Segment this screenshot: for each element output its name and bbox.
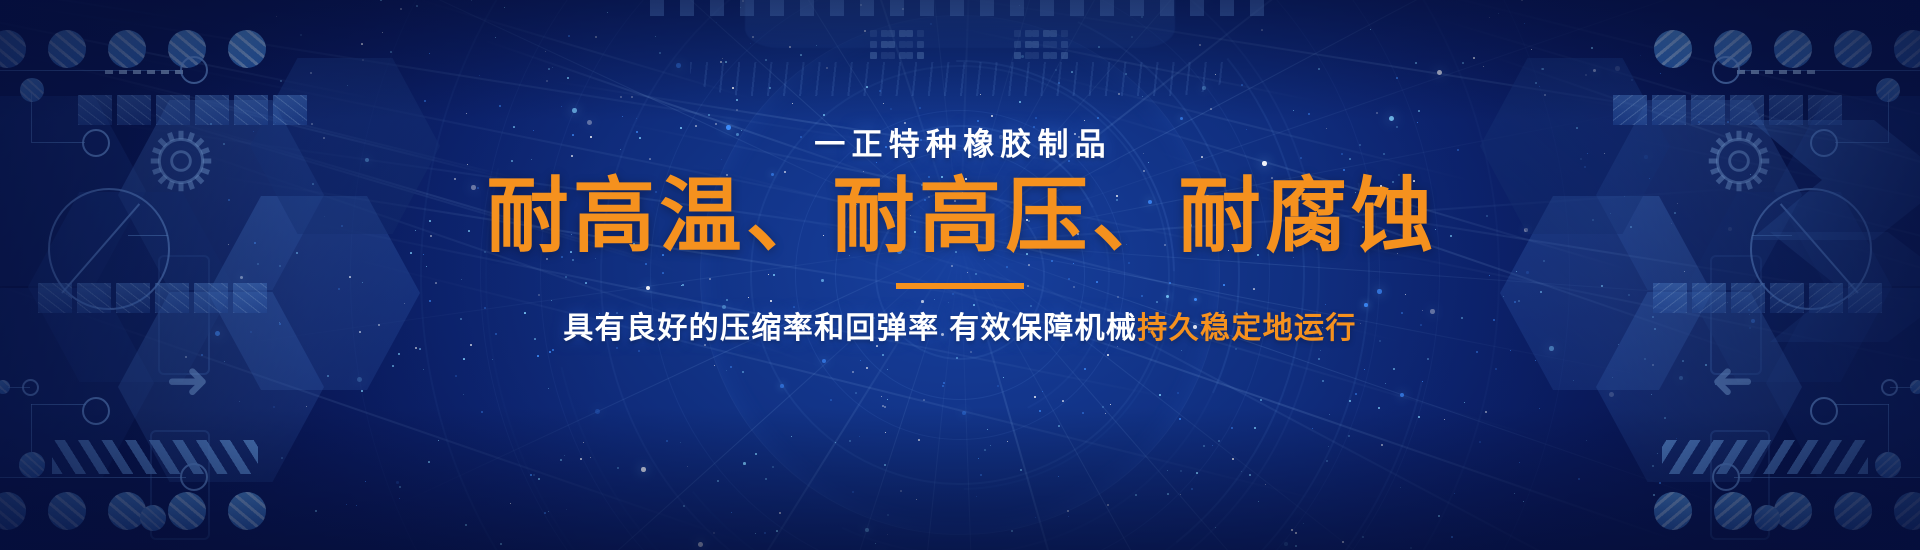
particle (1454, 493, 1455, 494)
particle (1479, 441, 1481, 443)
particle (396, 481, 399, 484)
particle (392, 365, 394, 367)
particle (1180, 494, 1181, 495)
circle-badge-row (1654, 492, 1920, 530)
particle (273, 406, 275, 408)
particle (1110, 404, 1111, 405)
particle (1510, 350, 1511, 351)
particle (1035, 517, 1036, 518)
particle (1462, 62, 1464, 64)
particle (1396, 77, 1398, 79)
arrow-left-icon: ➜ (1710, 355, 1754, 407)
hatched-bar (1662, 440, 1868, 474)
particle (1427, 358, 1429, 360)
particle (1644, 358, 1646, 360)
particle (638, 350, 640, 352)
console-dot (899, 41, 906, 48)
console-dot (1032, 52, 1039, 59)
particle (1657, 453, 1658, 454)
particle (1651, 394, 1652, 395)
particle (1544, 94, 1546, 96)
console-dot (1032, 41, 1039, 48)
particle (1495, 368, 1497, 370)
console-dot (888, 52, 895, 59)
console-dot (881, 52, 888, 59)
particle (356, 505, 357, 506)
particle (1578, 478, 1580, 480)
particle (1682, 360, 1684, 362)
particle (655, 36, 656, 37)
particle (567, 77, 569, 79)
console-dot (906, 41, 913, 48)
console-dot (881, 41, 888, 48)
particle (533, 474, 535, 476)
particle (1362, 536, 1364, 538)
particle (1524, 23, 1525, 24)
particle (900, 490, 902, 492)
circuit-trace (1834, 404, 1889, 405)
particle (1011, 530, 1013, 532)
top-console-ticks (650, 0, 1270, 16)
particle (943, 382, 945, 384)
particle (919, 107, 921, 109)
particle (1003, 377, 1004, 378)
particle (1215, 527, 1216, 528)
particle (666, 440, 668, 442)
particle (327, 375, 329, 377)
console-dot (1043, 41, 1050, 48)
particle (1105, 413, 1106, 414)
circuit-node-filled (0, 380, 10, 394)
particle (595, 409, 600, 414)
particle (455, 375, 457, 377)
particle (1535, 82, 1537, 84)
circle-badge (1834, 492, 1872, 530)
particle (1541, 68, 1543, 70)
particle (315, 510, 317, 512)
hatched-bar (52, 440, 258, 474)
circuit-trace (31, 404, 32, 462)
console-dot (1061, 30, 1068, 37)
particle (1159, 394, 1161, 396)
particle (1593, 69, 1596, 72)
particle (1191, 488, 1193, 490)
particle (1058, 425, 1060, 427)
particle (715, 123, 717, 125)
circle-badge (1654, 30, 1692, 68)
particle (835, 442, 836, 443)
circuit-trace (1890, 387, 1912, 388)
circle-badge-row (1654, 30, 1920, 68)
particle (463, 394, 464, 395)
circle-badge (1654, 492, 1692, 530)
particle (1068, 516, 1069, 517)
console-dot (1014, 41, 1021, 48)
console-dot (1043, 52, 1050, 59)
circuit-trace (0, 477, 186, 478)
chip-block (1691, 95, 1725, 125)
particle (275, 122, 276, 123)
circuit-node-filled (1910, 380, 1920, 394)
console-dot (906, 30, 913, 37)
particle (423, 369, 424, 370)
particle (616, 347, 618, 349)
console-dot (881, 30, 888, 37)
particle (281, 457, 283, 459)
particle (346, 504, 347, 505)
circuit-trace (1740, 70, 1920, 71)
particle (1498, 13, 1499, 14)
particle (631, 96, 633, 98)
particle (1303, 523, 1304, 524)
particle (1039, 410, 1041, 412)
particle (1102, 406, 1104, 408)
particle (980, 474, 982, 476)
circuit-node-filled (19, 452, 45, 478)
particle (1241, 84, 1243, 86)
particle (956, 357, 958, 359)
particle (1135, 494, 1137, 496)
particle (942, 385, 944, 387)
circuit-node-outline (82, 397, 110, 425)
particle (860, 360, 861, 361)
particle (537, 355, 539, 357)
particle (852, 491, 854, 493)
circle-badge (228, 492, 266, 530)
particle (1180, 117, 1183, 120)
particle (1249, 474, 1251, 476)
particle (415, 347, 417, 349)
particle (1535, 360, 1536, 361)
circle-badge (1714, 492, 1752, 530)
particle (1212, 445, 1213, 446)
particle (1438, 515, 1440, 517)
particle (1473, 57, 1475, 59)
particle (607, 12, 608, 13)
particle (1585, 74, 1587, 76)
particle (890, 108, 892, 110)
particle (1084, 368, 1086, 370)
circle-badge (168, 492, 206, 530)
particle (904, 122, 906, 124)
tagline-orange-part: 持久稳定地运行 (1137, 312, 1356, 345)
particle (1342, 541, 1344, 543)
particle (680, 442, 681, 443)
particle (1199, 44, 1201, 46)
particle (587, 120, 592, 125)
particle (390, 51, 392, 53)
circle-badge (48, 30, 86, 68)
console-dot (870, 41, 877, 48)
chip-block (195, 95, 229, 125)
chip-block (117, 95, 151, 125)
circle-badge (228, 30, 266, 68)
particle (1322, 380, 1324, 382)
circle-badge (1774, 30, 1812, 68)
chip-block (273, 95, 307, 125)
particle (466, 113, 467, 114)
circle-badge (1714, 30, 1752, 68)
particle (416, 5, 418, 7)
particle (1364, 369, 1365, 370)
particle (1067, 510, 1069, 512)
particle (695, 125, 697, 127)
particle (1355, 393, 1357, 395)
particle (382, 32, 383, 33)
particle (548, 68, 550, 70)
particle (429, 53, 430, 54)
particle (991, 115, 993, 117)
particle (716, 22, 717, 23)
particle (552, 349, 554, 351)
headline-title: 耐高温、耐高压、耐腐蚀 (5, 174, 1920, 261)
particle (875, 543, 876, 544)
particle (568, 35, 570, 37)
circle-badge (1774, 492, 1812, 530)
particle (500, 543, 502, 545)
particle (210, 123, 212, 125)
console-dot (870, 52, 877, 59)
particle (201, 354, 203, 356)
particle (698, 542, 703, 547)
particle (743, 462, 746, 465)
circuit-node-outline (1810, 397, 1838, 425)
console-dot (899, 30, 906, 37)
console-dot (1014, 52, 1021, 59)
particle (1107, 354, 1109, 356)
particle (1393, 368, 1395, 370)
particle (1007, 441, 1008, 442)
particle (717, 480, 719, 482)
console-dot (917, 41, 924, 48)
particle (1539, 86, 1540, 87)
particle (1203, 445, 1205, 447)
circuit-trace (1888, 404, 1889, 462)
circle-badge (0, 492, 26, 530)
particle (239, 401, 240, 402)
particle (492, 359, 493, 360)
particle (1653, 494, 1655, 496)
particle (481, 411, 483, 413)
particle (419, 348, 421, 350)
particle (683, 505, 685, 507)
particle (1265, 484, 1266, 485)
particle (465, 524, 467, 526)
particle (1295, 545, 1297, 547)
particle (1042, 391, 1043, 392)
console-dot (899, 52, 906, 59)
particle (310, 72, 312, 74)
particle (1062, 400, 1064, 402)
particle (887, 369, 888, 370)
particle (1652, 465, 1654, 467)
particle (1035, 117, 1037, 119)
particle (438, 440, 439, 441)
particle (300, 34, 302, 36)
particle (1019, 101, 1021, 103)
brand-eyebrow: 一正特种橡胶制品 (6, 128, 1920, 162)
particle (1573, 380, 1574, 381)
particle (1381, 444, 1383, 446)
particle (750, 43, 751, 44)
particle (1542, 68, 1544, 70)
particle (564, 455, 565, 456)
particle (1349, 400, 1351, 402)
particle (855, 392, 857, 394)
circle-badge-row (0, 492, 266, 530)
particle (1142, 96, 1143, 97)
particle (306, 406, 307, 407)
console-dot (888, 41, 895, 48)
particle (1652, 364, 1654, 366)
particle (849, 440, 851, 442)
particle (865, 528, 869, 532)
tagline: 具有良好的压缩率和回弹率 有效保障机械持久稳定地运行 (0, 311, 1920, 347)
circuit-trace (0, 70, 180, 71)
circuit-node-outline (1712, 56, 1740, 84)
orange-divider (896, 283, 1024, 289)
particle (572, 108, 577, 113)
particle (311, 123, 313, 125)
particle (636, 118, 637, 119)
circuit-node-outline (1881, 379, 1898, 396)
particle (1410, 547, 1412, 549)
circuit-node-outline (1712, 463, 1740, 491)
particle (852, 371, 854, 373)
particle (1261, 29, 1263, 31)
particle (1664, 417, 1666, 419)
particle (990, 445, 991, 446)
particle (641, 467, 646, 472)
particle (1660, 73, 1661, 74)
particle (1058, 476, 1059, 477)
particle (1329, 414, 1330, 415)
particle (1539, 408, 1540, 409)
particle (1385, 383, 1386, 384)
particle (887, 399, 888, 400)
particle (883, 103, 884, 104)
console-dot (1025, 30, 1032, 37)
particle (566, 509, 567, 510)
circle-badge (108, 30, 146, 68)
particle (765, 59, 767, 61)
particle (1210, 108, 1212, 110)
particle (779, 512, 781, 514)
circuit-node-filled (1754, 505, 1780, 531)
console-dot (917, 30, 924, 37)
particle (1318, 68, 1320, 70)
particle (687, 466, 688, 467)
particle (1291, 529, 1293, 531)
particle (1378, 407, 1380, 409)
light-streak (0, 11, 375, 100)
particle (742, 371, 744, 373)
frame-rect (1710, 430, 1770, 540)
particle (887, 514, 889, 516)
particle (800, 54, 802, 56)
circuit-trace (1735, 70, 1815, 74)
particle (471, 0, 472, 1)
particle (1348, 435, 1350, 437)
particle (822, 359, 826, 363)
particle (1177, 392, 1179, 394)
particle (561, 106, 562, 107)
particle (548, 388, 549, 389)
particle (1612, 377, 1613, 378)
particle (1218, 440, 1220, 442)
particle (1235, 348, 1237, 350)
particle (1523, 501, 1524, 502)
console-dot (1032, 30, 1039, 37)
particle (1437, 70, 1442, 75)
particle (545, 51, 546, 52)
hero-banner: ➜ (0, 0, 1920, 550)
particle (224, 361, 225, 362)
particle (1451, 536, 1453, 538)
particle (560, 459, 562, 461)
particle (530, 474, 532, 476)
particle (1659, 482, 1661, 484)
particle (357, 377, 362, 382)
particle (1167, 493, 1169, 495)
particle (1640, 55, 1641, 56)
particle (780, 384, 784, 388)
particle (1254, 427, 1256, 429)
particle (714, 365, 715, 366)
particle (1308, 113, 1310, 115)
particle (479, 75, 480, 76)
particle (347, 85, 348, 86)
console-dot (1061, 41, 1068, 48)
particle (676, 63, 681, 68)
particle (239, 61, 241, 63)
banner-text-block: 一正特种橡胶制品 耐高温、耐高压、耐腐蚀 具有良好的压缩率和回弹率 有效保障机械… (0, 128, 1920, 347)
circuit-node-filled (1876, 78, 1900, 102)
frame-rect (150, 430, 210, 540)
particle (362, 59, 364, 61)
particle (962, 411, 966, 415)
particle (708, 114, 710, 116)
particle (1293, 110, 1294, 111)
particle (1586, 440, 1587, 441)
particle (1180, 470, 1182, 472)
particle (791, 436, 792, 437)
particle (1389, 116, 1394, 121)
console-dot (1025, 52, 1032, 59)
particle (918, 439, 920, 441)
particle (1521, 0, 1523, 1)
particle (1232, 458, 1234, 460)
particle (1376, 112, 1378, 114)
particle (776, 530, 778, 532)
circuit-trace (105, 70, 185, 74)
circuit-trace (31, 404, 86, 405)
particle (916, 499, 917, 500)
console-dot (906, 52, 913, 59)
circuit-node-filled (140, 505, 166, 531)
particle (361, 390, 363, 392)
particle (1181, 350, 1182, 351)
particle (1326, 460, 1328, 462)
particle (463, 358, 465, 360)
circle-badge (1834, 30, 1872, 68)
particle (823, 114, 825, 116)
particle (538, 478, 540, 480)
circle-badge (1894, 492, 1920, 530)
circle-badge (108, 492, 146, 530)
particle (499, 105, 501, 107)
particle (1400, 393, 1404, 397)
